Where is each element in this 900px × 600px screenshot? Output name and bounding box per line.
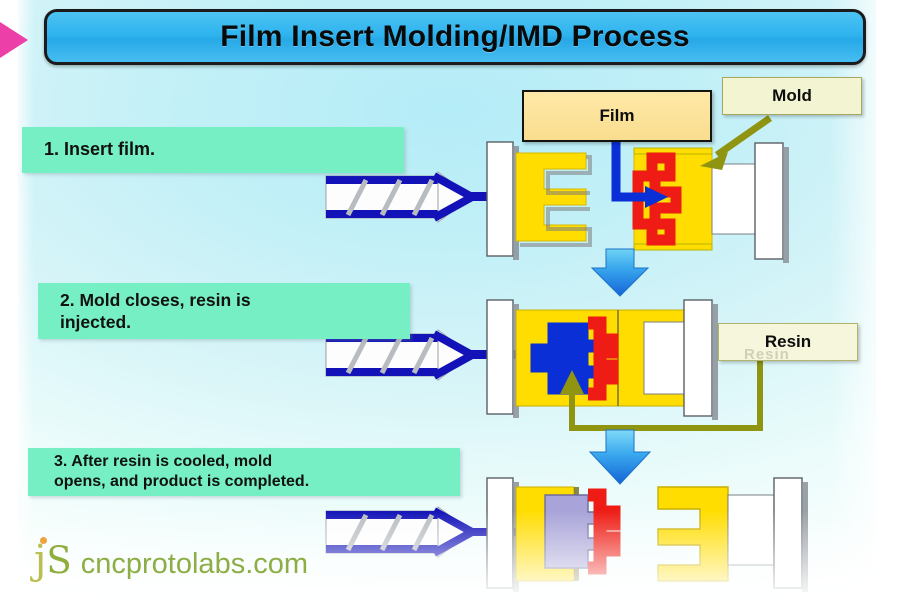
title-marker-triangle-icon — [0, 22, 28, 58]
background-fade-left — [0, 0, 34, 600]
step-3-caption: 3. After resin is cooled, mold opens, an… — [28, 448, 460, 496]
step-3-text: 3. After resin is cooled, mold opens, an… — [28, 452, 319, 493]
logo-mark-s: S — [46, 542, 71, 579]
page-title-text: Film Insert Molding/IMD Process — [220, 20, 690, 54]
step-2-caption: 2. Mold closes, resin is injected. — [38, 283, 410, 339]
mold-label-text: Mold — [772, 86, 812, 106]
film-label: Film — [522, 90, 712, 142]
step-1-text: 1. Insert film. — [22, 138, 165, 161]
logo-dot-icon — [40, 537, 47, 544]
logo-mark-j: j — [34, 540, 46, 580]
step-1-caption: 1. Insert film. — [22, 127, 404, 173]
site-logo[interactable]: j S cncprotolabs.com — [34, 540, 308, 580]
step-2-text: 2. Mold closes, resin is injected. — [38, 289, 261, 334]
page-title: Film Insert Molding/IMD Process — [44, 9, 866, 65]
logo-domain-text: cncprotolabs.com — [81, 550, 308, 579]
diagram-canvas: Film Insert Molding/IMD Process 1. Inser… — [0, 0, 900, 600]
resin-label-ghost-text: Resin — [744, 346, 790, 363]
film-label-text: Film — [600, 106, 635, 126]
mold-label: Mold — [722, 77, 862, 115]
